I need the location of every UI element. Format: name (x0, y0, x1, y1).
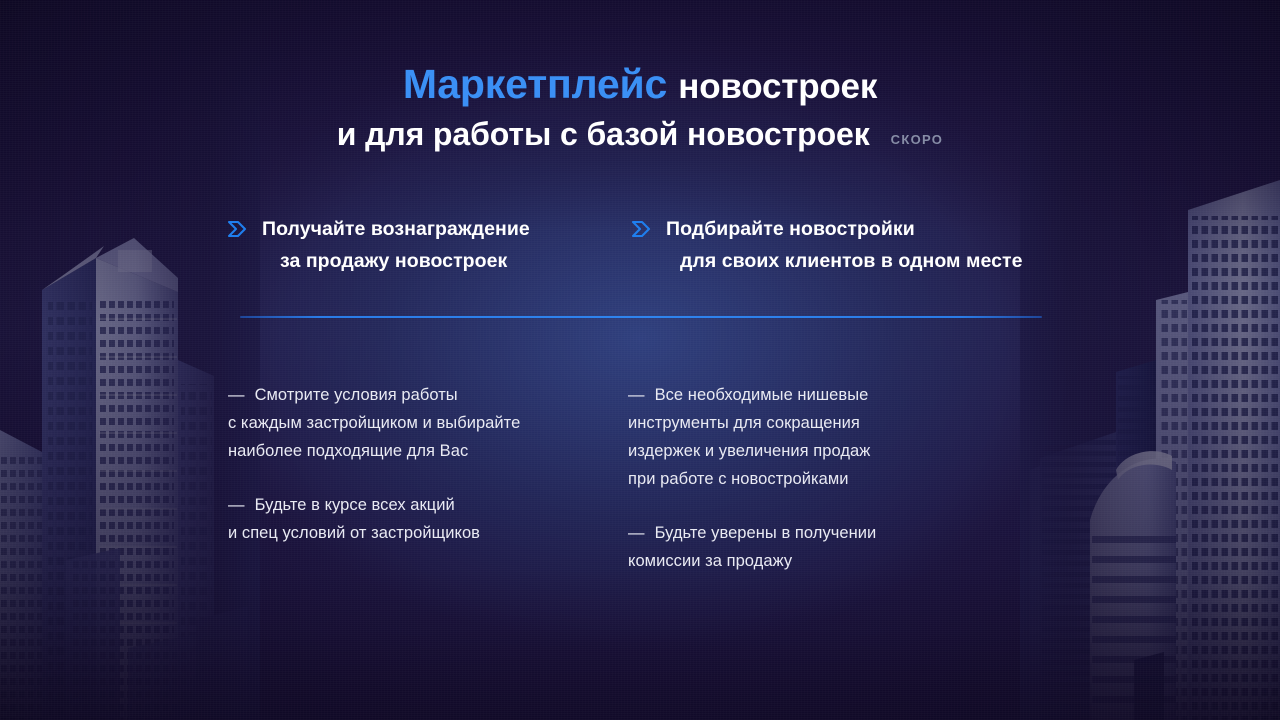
body-line: Будьте уверены в получении (655, 524, 877, 542)
title-plain-word: новостроек (678, 67, 877, 106)
body-line: комиссии за продажу (628, 547, 1048, 575)
body-line: Все необходимые нишевые (655, 386, 869, 404)
feature-line-2: для своих клиентов в одном месте (666, 246, 1022, 278)
body-paragraph: —Все необходимые нишевые инструменты для… (628, 381, 1048, 493)
dash-marker: — (628, 386, 645, 404)
body-paragraph: —Смотрите условия работы с каждым застро… (228, 381, 628, 465)
body-paragraph: —Будьте уверены в получении комиссии за … (628, 519, 1048, 575)
title-line-2: и для работы с базой новостроек (337, 117, 870, 153)
body-line: инструменты для сокращения (628, 409, 1048, 437)
body-column-right: —Все необходимые нишевые инструменты для… (628, 381, 1048, 575)
feature-row: Получайте вознаграждение за продажу ново… (226, 214, 1066, 277)
feature-headings: Получайте вознаграждение за продажу ново… (226, 214, 1066, 277)
feature-item-select: Подбирайте новостройки для своих клиенто… (630, 214, 1066, 277)
body-line: и спец условий от застройщиков (228, 519, 628, 547)
dash-marker: — (228, 386, 245, 404)
title-block: Маркетплейс новостроек и для работы с ба… (0, 62, 1280, 153)
body-column-left: —Смотрите условия работы с каждым застро… (228, 381, 628, 575)
feature-item-select-text: Подбирайте новостройки для своих клиенто… (666, 214, 1022, 277)
slide-root: Маркетплейс новостроек и для работы с ба… (0, 0, 1280, 720)
slide-content: Маркетплейс новостроек и для работы с ба… (0, 0, 1280, 720)
body-line: издержек и увеличения продаж (628, 437, 1048, 465)
body-columns: —Смотрите условия работы с каждым застро… (228, 381, 1068, 575)
status-badge-soon: СКОРО (891, 132, 944, 153)
feature-line-1: Подбирайте новостройки (666, 218, 915, 240)
dash-marker: — (228, 496, 245, 514)
feature-line-2: за продажу новостроек (262, 246, 530, 278)
body-line: Смотрите условия работы (255, 386, 458, 404)
body-line: наиболее подходящие для Вас (228, 437, 628, 465)
body-line: с каждым застройщиком и выбирайте (228, 409, 628, 437)
title-line-2-row: и для работы с базой новостроек СКОРО (0, 117, 1280, 153)
body-line: при работе с новостройками (628, 465, 1048, 493)
arrow-chevron-icon (226, 219, 248, 239)
title-accent-word: Маркетплейс (403, 61, 667, 107)
arrow-chevron-icon (630, 219, 652, 239)
body-paragraph: —Будьте в курсе всех акций и спец услови… (228, 491, 628, 547)
section-divider (240, 316, 1042, 318)
body-line: Будьте в курсе всех акций (255, 496, 455, 514)
feature-line-1: Получайте вознаграждение (262, 218, 530, 240)
feature-item-reward: Получайте вознаграждение за продажу ново… (226, 214, 630, 277)
dash-marker: — (628, 524, 645, 542)
title-line-1: Маркетплейс новостроек (0, 62, 1280, 108)
feature-item-reward-text: Получайте вознаграждение за продажу ново… (262, 214, 530, 277)
